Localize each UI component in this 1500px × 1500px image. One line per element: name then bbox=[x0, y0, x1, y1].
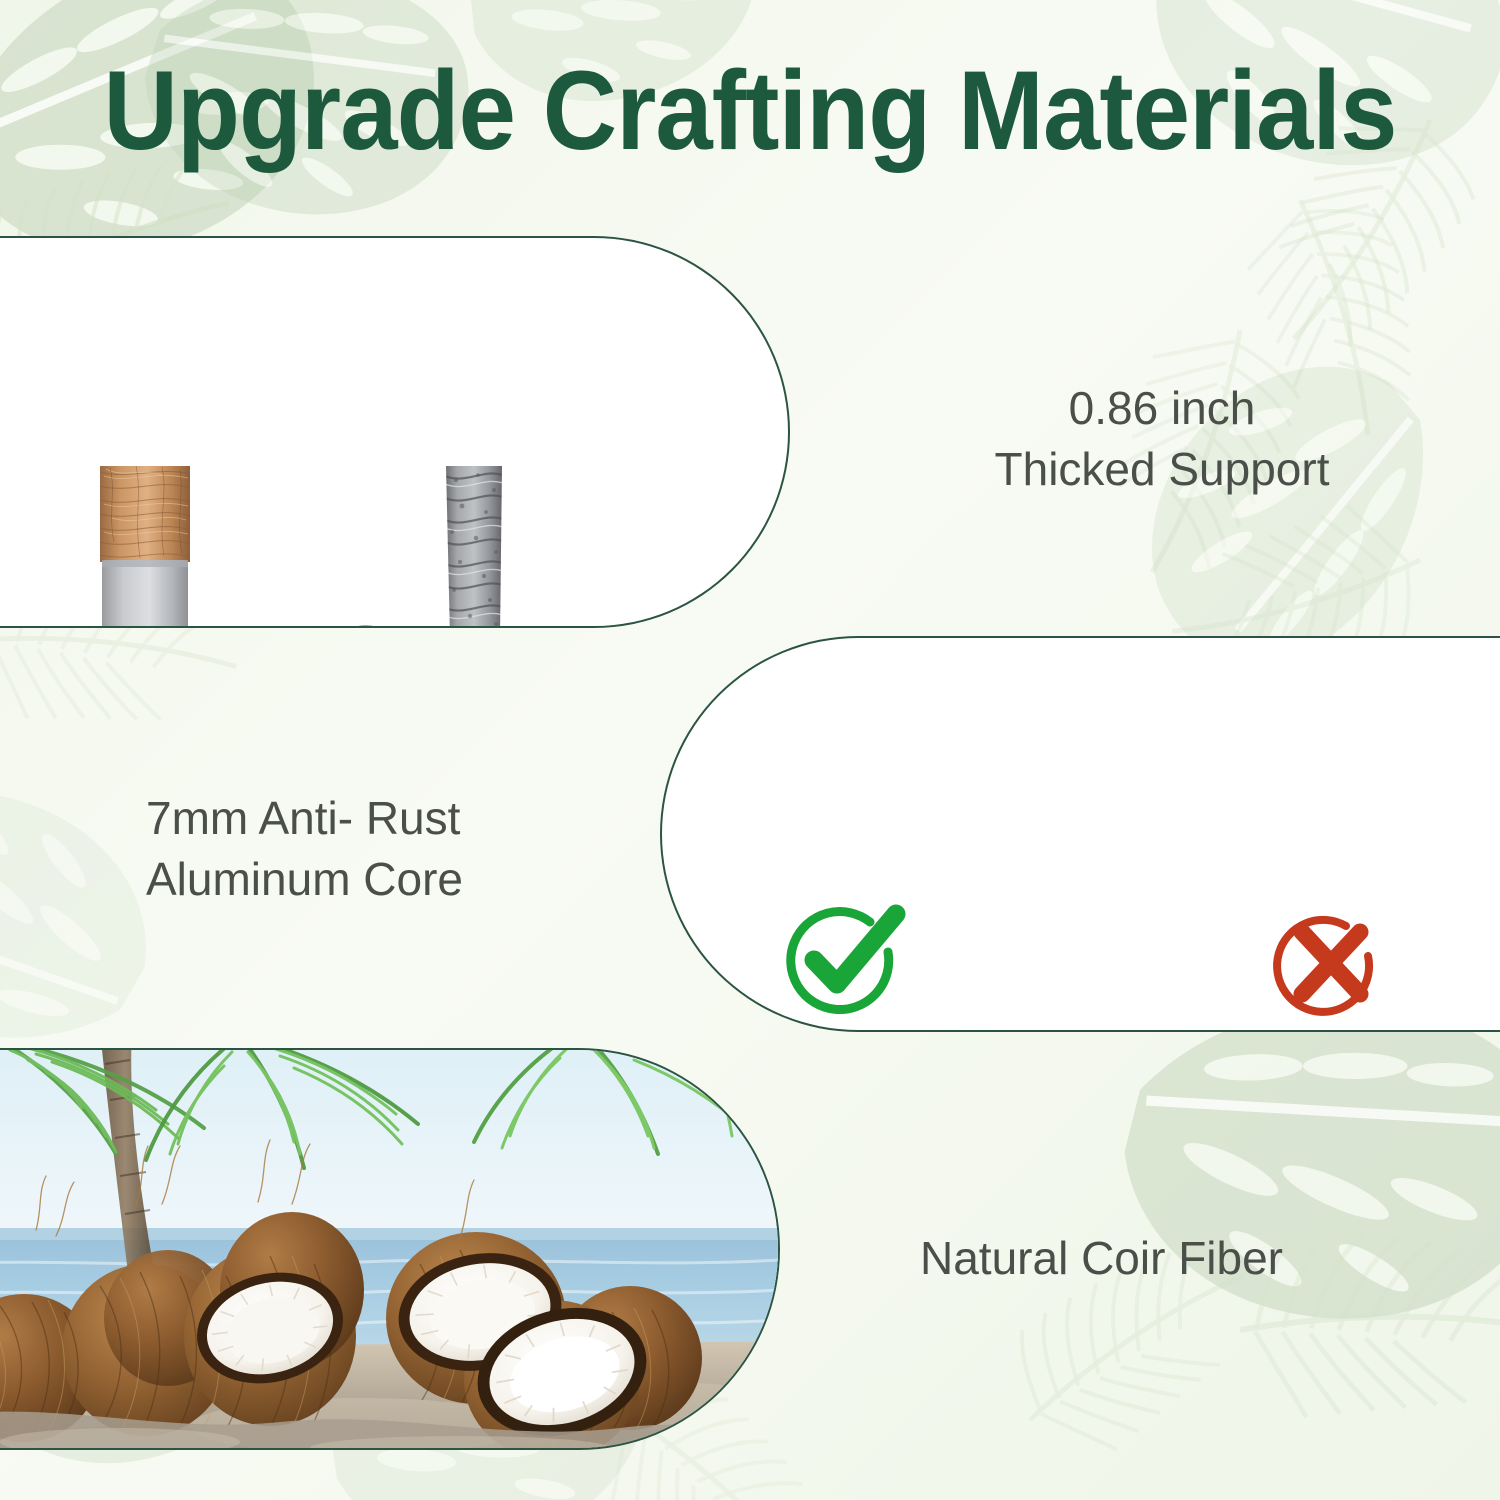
thin-gray-rope-stick-image bbox=[426, 466, 522, 628]
caption-core-line1: 7mm Anti- Rust bbox=[146, 788, 463, 849]
page-title: Upgrade Crafting Materials bbox=[60, 54, 1440, 168]
cross-circle-icon bbox=[1268, 910, 1392, 1030]
caption-core-line2: Aluminum Core bbox=[146, 849, 463, 910]
check-circle-icon bbox=[778, 898, 910, 1024]
feature-card-natural-coir-fiber bbox=[0, 1048, 780, 1450]
caption-aluminum-core: 7mm Anti- Rust Aluminum Core bbox=[146, 788, 463, 909]
caption-support-line1: 0.86 inch bbox=[995, 378, 1330, 439]
caption-natural-coir-fiber: Natural Coir Fiber bbox=[920, 1228, 1283, 1289]
coir-pole-with-stake-image bbox=[92, 466, 198, 628]
feature-card-thicked-support: VS bbox=[0, 236, 790, 628]
caption-support-line2: Thicked Support bbox=[995, 439, 1330, 500]
caption-coir-line1: Natural Coir Fiber bbox=[920, 1228, 1283, 1289]
caption-thicked-support: 0.86 inch Thicked Support bbox=[995, 378, 1330, 499]
coconuts-on-beach-photo bbox=[0, 1050, 780, 1450]
vs-label-support: VS bbox=[262, 610, 386, 628]
